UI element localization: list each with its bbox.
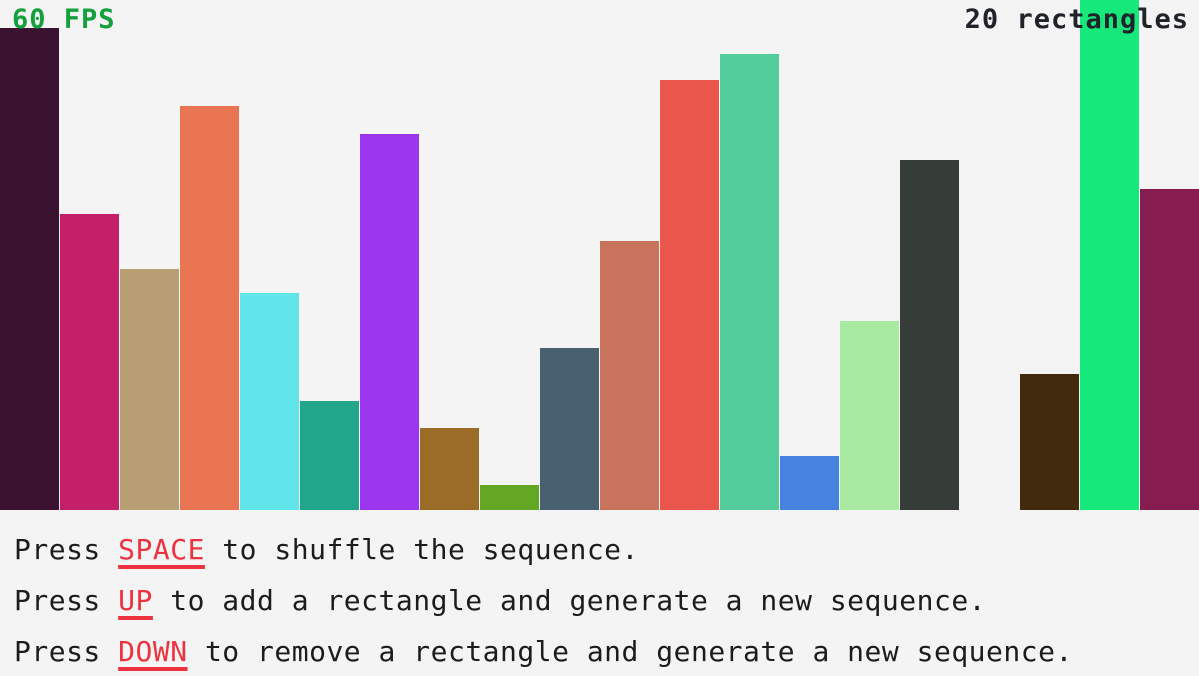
bar-8-brown-gold (420, 428, 479, 510)
instruction-prefix: Press (14, 635, 118, 668)
bar-7-purple (360, 134, 419, 510)
key-hint-down[interactable]: DOWN (118, 635, 187, 668)
instruction-line-1: Press SPACE to shuffle the sequence. (0, 526, 1199, 574)
bar-9-olive-green (480, 485, 539, 510)
bar-10-slate-blue (540, 348, 599, 510)
bar-11-terracotta (600, 241, 659, 510)
bar-14-blue (780, 456, 839, 510)
bar-20-wine (1140, 189, 1199, 510)
instruction-suffix: to remove a rectangle and generate a new… (188, 635, 1073, 668)
instruction-prefix: Press (14, 533, 118, 566)
bar-15-light-green (840, 321, 899, 510)
fps-counter: 60 FPS (12, 6, 116, 33)
bar-2-magenta (60, 214, 119, 510)
instruction-suffix: to shuffle the sequence. (205, 533, 639, 566)
bar-18-dark-brown (1020, 374, 1079, 510)
bar-3-tan (120, 269, 179, 510)
instructions-panel: Press SPACE to shuffle the sequence.Pres… (0, 510, 1199, 675)
bar-6-teal (300, 401, 359, 510)
instruction-prefix: Press (14, 584, 118, 617)
instruction-line-2: Press UP to add a rectangle and generate… (0, 577, 1199, 625)
bar-5-cyan (240, 293, 299, 510)
bar-16-charcoal (900, 160, 959, 510)
bar-13-medium-green (720, 54, 779, 510)
rectangle-count-label: 20 rectangles (965, 6, 1189, 33)
key-hint-space[interactable]: SPACE (118, 533, 205, 566)
rectangle-sequence-chart (0, 0, 1199, 510)
instruction-suffix: to add a rectangle and generate a new se… (153, 584, 986, 617)
app-canvas: 60 FPS 20 rectangles Press SPACE to shuf… (0, 0, 1199, 675)
key-hint-up[interactable]: UP (118, 584, 153, 617)
bar-4-orange (180, 106, 239, 510)
bar-12-red (660, 80, 719, 510)
instruction-line-3: Press DOWN to remove a rectangle and gen… (0, 628, 1199, 676)
bar-1-dark-plum (0, 28, 59, 510)
bar-19-spring-green (1080, 0, 1139, 510)
